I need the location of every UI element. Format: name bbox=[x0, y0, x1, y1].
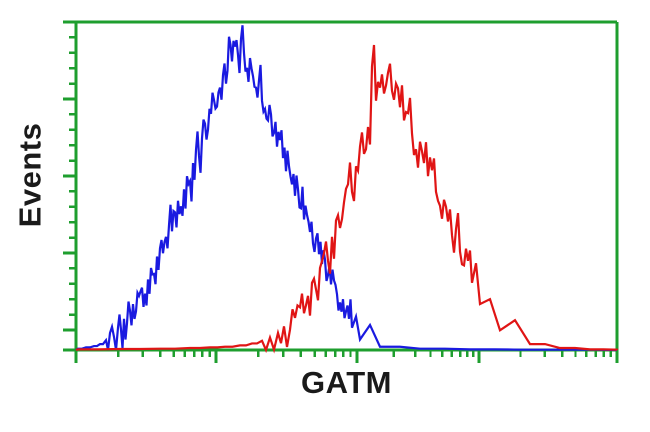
y-axis-ticks bbox=[63, 22, 76, 350]
histogram-trace-red bbox=[76, 45, 617, 350]
histogram-traces bbox=[76, 25, 617, 350]
flow-cytometry-figure: Events GATM bbox=[0, 0, 650, 432]
x-axis-ticks bbox=[76, 350, 617, 363]
x-axis-label: GATM bbox=[76, 365, 617, 401]
